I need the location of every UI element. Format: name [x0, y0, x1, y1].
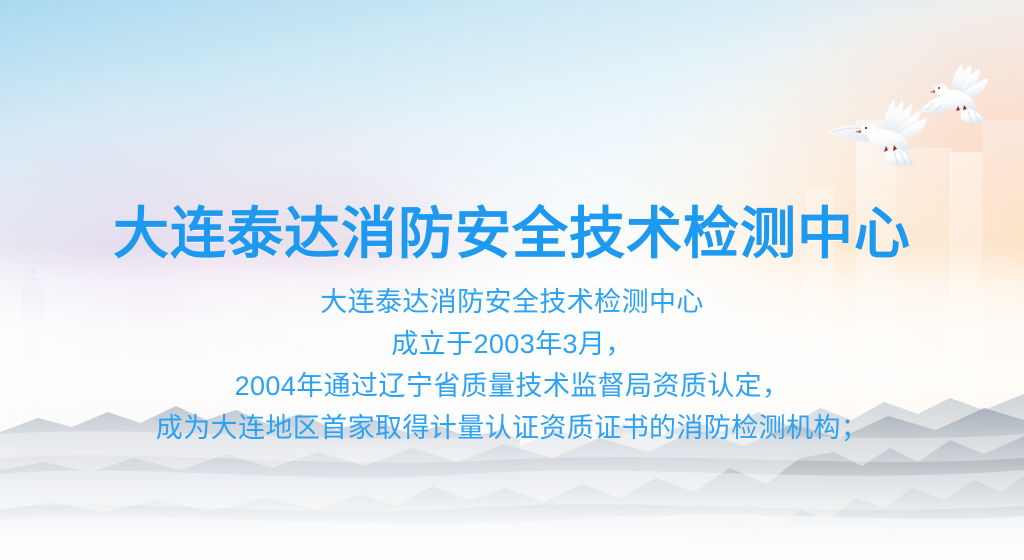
description-line-3: 2004年通过辽宁省质量技术监督局资质认定， [0, 365, 1024, 407]
description-line-2: 成立于2003年3月， [0, 323, 1024, 365]
description-line-4: 成为大连地区首家取得计量认证资质证书的消防检测机构； [0, 407, 1024, 449]
slide-canvas: 大连泰达消防安全技术检测中心 大连泰达消防安全技术检测中心 成立于2003年3月… [0, 0, 1024, 560]
page-title: 大连泰达消防安全技术检测中心 [0, 204, 1024, 264]
description-line-1: 大连泰达消防安全技术检测中心 [0, 281, 1024, 323]
description-block: 大连泰达消防安全技术检测中心 成立于2003年3月， 2004年通过辽宁省质量技… [0, 281, 1024, 449]
text-content: 大连泰达消防安全技术检测中心 大连泰达消防安全技术检测中心 成立于2003年3月… [0, 0, 1024, 560]
